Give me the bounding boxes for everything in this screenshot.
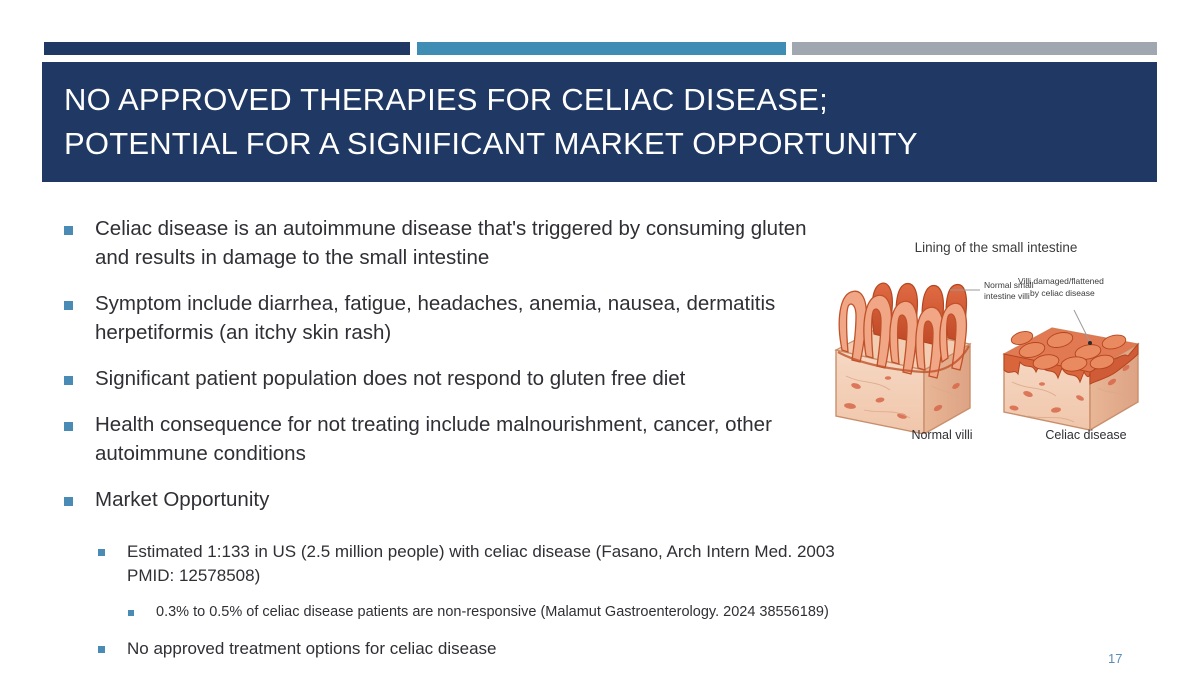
sub-bullet-item: Estimated 1:133 in US (2.5 million peopl… <box>0 540 845 588</box>
spacer <box>0 531 845 540</box>
page-number: 17 <box>1108 651 1122 666</box>
bullet-item: Significant patient population does not … <box>0 364 845 393</box>
bullet-marker <box>128 610 134 616</box>
bullet-text: Health consequence for not treating incl… <box>95 410 815 468</box>
intestine-diagram-svg: Normal small intestine villi <box>828 258 1164 434</box>
sub-bullet-text: No approved treatment options for celiac… <box>127 637 845 661</box>
accent-bar-blue <box>417 42 786 55</box>
bullet-item: Symptom include diarrhea, fatigue, heada… <box>0 289 845 347</box>
slide-title: NO APPROVED THERAPIES FOR CELIAC DISEASE… <box>64 78 1134 166</box>
figure-title: Lining of the small intestine <box>828 240 1164 255</box>
bullet-marker <box>64 376 73 385</box>
svg-text:by celiac disease: by celiac disease <box>1030 288 1095 298</box>
bullet-item: Celiac disease is an autoimmune disease … <box>0 214 845 272</box>
bullet-text: Market Opportunity <box>95 485 815 514</box>
sub-bullet-item: No approved treatment options for celiac… <box>0 637 845 661</box>
sub-sub-bullet-item: 0.3% to 0.5% of celiac disease patients … <box>0 602 845 623</box>
bullet-marker <box>64 422 73 431</box>
bullet-text: Symptom include diarrhea, fatigue, heada… <box>95 289 815 347</box>
bullet-marker <box>64 497 73 506</box>
bullet-marker <box>98 549 105 556</box>
accent-bar-gray <box>792 42 1157 55</box>
svg-text:intestine villi: intestine villi <box>984 291 1030 301</box>
bullet-text: Significant patient population does not … <box>95 364 815 393</box>
slide-title-band: NO APPROVED THERAPIES FOR CELIAC DISEASE… <box>42 62 1157 182</box>
normal-villi-block <box>836 283 970 434</box>
svg-text:Villi damaged/flattened: Villi damaged/flattened <box>1018 276 1104 286</box>
bullet-marker <box>98 646 105 653</box>
bullet-item-market-opportunity: Market Opportunity <box>0 485 845 514</box>
accent-bar-group <box>0 42 1200 55</box>
bullet-text: Celiac disease is an autoimmune disease … <box>95 214 815 272</box>
bullet-marker <box>64 301 73 310</box>
bullet-item: Health consequence for not treating incl… <box>0 410 845 468</box>
figure-caption-celiac: Celiac disease <box>996 428 1176 442</box>
accent-bar-navy <box>44 42 410 55</box>
intestine-illustration: Lining of the small intestine <box>828 240 1164 452</box>
bullet-marker <box>64 226 73 235</box>
celiac-disease-block <box>1004 328 1138 430</box>
sub-sub-bullet-text: 0.3% to 0.5% of celiac disease patients … <box>156 602 845 623</box>
sub-bullet-text: Estimated 1:133 in US (2.5 million peopl… <box>127 540 845 588</box>
figure-caption-normal: Normal villi <box>872 428 1012 442</box>
bullet-list: Celiac disease is an autoimmune disease … <box>0 214 845 675</box>
